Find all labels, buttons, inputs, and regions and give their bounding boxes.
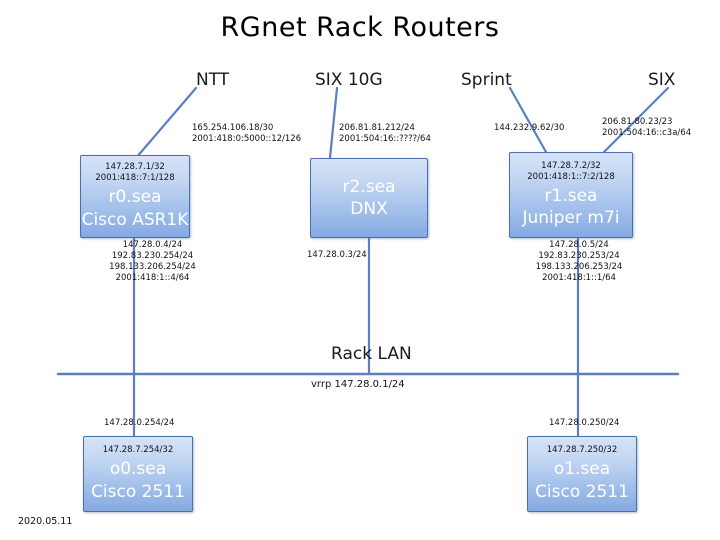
lan-ip: 2001:418:1::4/64 (95, 273, 210, 284)
console-hostname: o1.sea (554, 458, 610, 480)
router-hostname: r0.sea (109, 186, 162, 208)
router-loopback-v6: 2001:418:1::7:2/128 (527, 172, 615, 183)
lan-ip: 147.28.0.3/24 (307, 250, 367, 261)
provider-label-sprint: Sprint (461, 70, 512, 90)
uplink-ips-six10g: 206.81.81.212/24 2001:504:16::????/64 (339, 123, 431, 145)
router-model: Cisco ASR1K (82, 209, 189, 231)
uplink-ip: 2001:504:16::c3a/64 (602, 128, 691, 139)
console-model: Cisco 2511 (535, 481, 629, 503)
provider-label-ntt: NTT (196, 70, 229, 90)
router-model: DNX (350, 198, 387, 220)
router-model: Juniper m7i (522, 207, 619, 229)
uplink-ip: 165.254.106.18/30 (192, 123, 301, 134)
console-link-ip-o0-sea: 147.28.0.254/24 (104, 418, 174, 429)
uplink-ip: 2001:418:0:5000::12/126 (192, 134, 301, 145)
router-loopback-v6: 2001:418::7:1/128 (95, 173, 174, 184)
rack-lan-label: Rack LAN (331, 344, 412, 364)
uplink-ip: 206.81.80.23/23 (602, 117, 691, 128)
router-node-r2-sea[interactable]: r2.sea DNX (310, 158, 428, 238)
router-hostname: r2.sea (343, 176, 396, 198)
provider-label-six: SIX (648, 70, 675, 90)
console-hostname: o0.sea (110, 458, 166, 480)
router-lan-ips-r2-sea: 147.28.0.3/24 (307, 250, 367, 261)
lan-ip: 198.133.206.253/24 (520, 262, 638, 273)
page-title: RGnet Rack Routers (0, 12, 720, 43)
provider-label-six10g: SIX 10G (315, 70, 383, 90)
network-diagram-canvas: RGnet Rack Routers NTT SIX 10G Sprint SI… (0, 0, 720, 540)
console-model: Cisco 2511 (91, 481, 185, 503)
console-server-node-o0-sea[interactable]: 147.28.7.254/32 o0.sea Cisco 2511 (83, 436, 193, 512)
uplink-ips-ntt: 165.254.106.18/30 2001:418:0:5000::12/12… (192, 123, 301, 145)
console-link-ip-o1-sea: 147.28.0.250/24 (549, 418, 619, 429)
console-loopback-v4: 147.28.7.250/32 (547, 445, 617, 456)
uplink-ip: 2001:504:16::????/64 (339, 134, 431, 145)
lan-ip: 192.83.230.253/24 (520, 251, 638, 262)
lan-ip: 147.28.0.5/24 (520, 240, 638, 251)
console-server-node-o1-sea[interactable]: 147.28.7.250/32 o1.sea Cisco 2511 (527, 436, 637, 512)
uplink-ips-six: 206.81.80.23/23 2001:504:16::c3a/64 (602, 117, 691, 139)
uplink-ips-sprint: 144.232.9.62/30 (494, 123, 564, 134)
uplink-ip: 144.232.9.62/30 (494, 123, 564, 134)
lan-ip: 192.83.230.254/24 (95, 251, 210, 262)
wire-sprint-to-r1 (510, 88, 546, 152)
uplink-ip: 206.81.81.212/24 (339, 123, 431, 134)
link-ip: 147.28.0.250/24 (549, 418, 619, 429)
wire-ntt-to-r0 (136, 88, 196, 158)
link-ip: 147.28.0.254/24 (104, 418, 174, 429)
lan-ip: 2001:418:1::1/64 (520, 273, 638, 284)
router-node-r1-sea[interactable]: 147.28.7.2/32 2001:418:1::7:2/128 r1.sea… (509, 152, 633, 238)
lan-ip: 147.28.0.4/24 (95, 240, 210, 251)
console-loopback-v4: 147.28.7.254/32 (103, 445, 173, 456)
router-loopback-v4: 147.28.7.1/32 (105, 162, 165, 173)
wire-six10g-to-r2 (330, 88, 337, 158)
router-lan-ips-r0-sea: 147.28.0.4/24 192.83.230.254/24 198.133.… (95, 240, 210, 284)
router-hostname: r1.sea (545, 185, 598, 207)
lan-ip: 198.133.206.254/24 (95, 262, 210, 273)
router-lan-ips-r1-sea: 147.28.0.5/24 192.83.230.253/24 198.133.… (520, 240, 638, 284)
router-loopback-v4: 147.28.7.2/32 (541, 161, 601, 172)
date-stamp: 2020.05.11 (18, 516, 72, 527)
router-node-r0-sea[interactable]: 147.28.7.1/32 2001:418::7:1/128 r0.sea C… (80, 155, 190, 238)
rack-lan-vrrp-label: vrrp 147.28.0.1/24 (311, 379, 405, 390)
